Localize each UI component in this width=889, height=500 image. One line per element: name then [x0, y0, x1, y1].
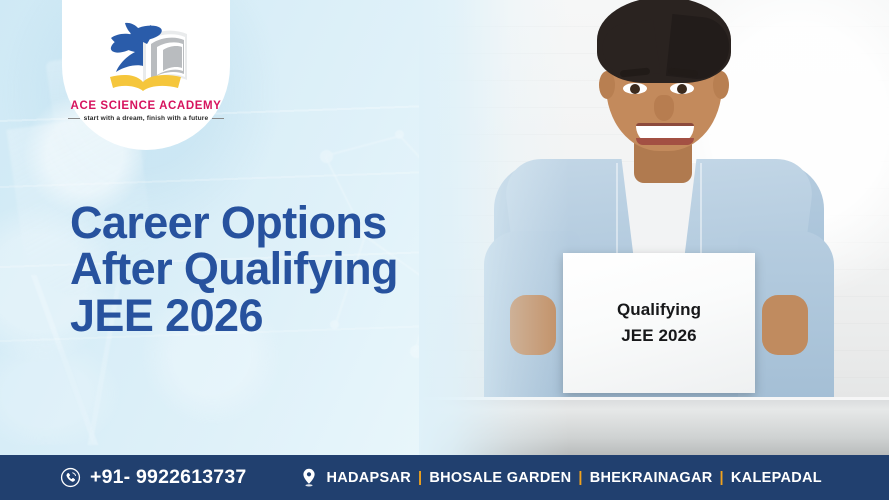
- smiling-mouth: [636, 123, 694, 145]
- location-separator-2: |: [720, 470, 724, 486]
- location-pin-icon: [301, 468, 317, 488]
- location-separator-0: |: [418, 470, 422, 486]
- photo-left-fade: [419, 0, 569, 455]
- locations-text: HADAPSAR | BHOSALE GARDEN | BHEKRAINAGAR…: [326, 470, 822, 486]
- hand-right: [762, 295, 808, 355]
- location-item-1: BHOSALE GARDEN: [429, 470, 571, 486]
- sign-line-1: Qualifying: [617, 300, 701, 320]
- logo-name-text: ACE SCIENCE ACADEMY: [71, 100, 222, 112]
- eye-left: [623, 83, 647, 94]
- sign-line-2: JEE 2026: [621, 326, 696, 346]
- location-item-3: KALEPADAL: [731, 470, 822, 486]
- eye-right: [670, 83, 694, 94]
- headline-line-1: Career Options: [70, 200, 398, 246]
- location-item-2: BHEKRAINAGAR: [590, 470, 713, 486]
- location-item-0: HADAPSAR: [326, 470, 411, 486]
- phone-contact[interactable]: +91- 9922613737: [60, 466, 246, 489]
- headline-line-2: After Qualifying: [70, 246, 398, 292]
- held-paper-sign: Qualifying JEE 2026: [563, 253, 755, 393]
- phone-circle-icon: [60, 467, 81, 488]
- location-separator-1: |: [578, 470, 582, 486]
- headline-line-3: JEE 2026: [70, 293, 398, 339]
- phone-number-text: +91- 9922613737: [90, 466, 246, 489]
- locations-list[interactable]: HADAPSAR | BHOSALE GARDEN | BHEKRAINAGAR…: [301, 468, 822, 488]
- contact-footer-bar: +91- 9922613737 HADAPSAR | BHOSALE GARDE…: [0, 455, 889, 500]
- logo-tagline-label: start with a dream, finish with a future: [84, 115, 209, 122]
- hair: [597, 0, 731, 83]
- promotional-banner: Qualifying JEE 2026 ACE SCIENCE ACADE: [0, 0, 889, 500]
- student-photo: Qualifying JEE 2026: [419, 0, 889, 455]
- page-title: Career Options After Qualifying JEE 2026: [70, 200, 398, 339]
- graduates-book-logo-icon: [83, 20, 209, 94]
- nose: [654, 95, 674, 121]
- logo-tagline-text: start with a dream, finish with a future: [68, 115, 225, 122]
